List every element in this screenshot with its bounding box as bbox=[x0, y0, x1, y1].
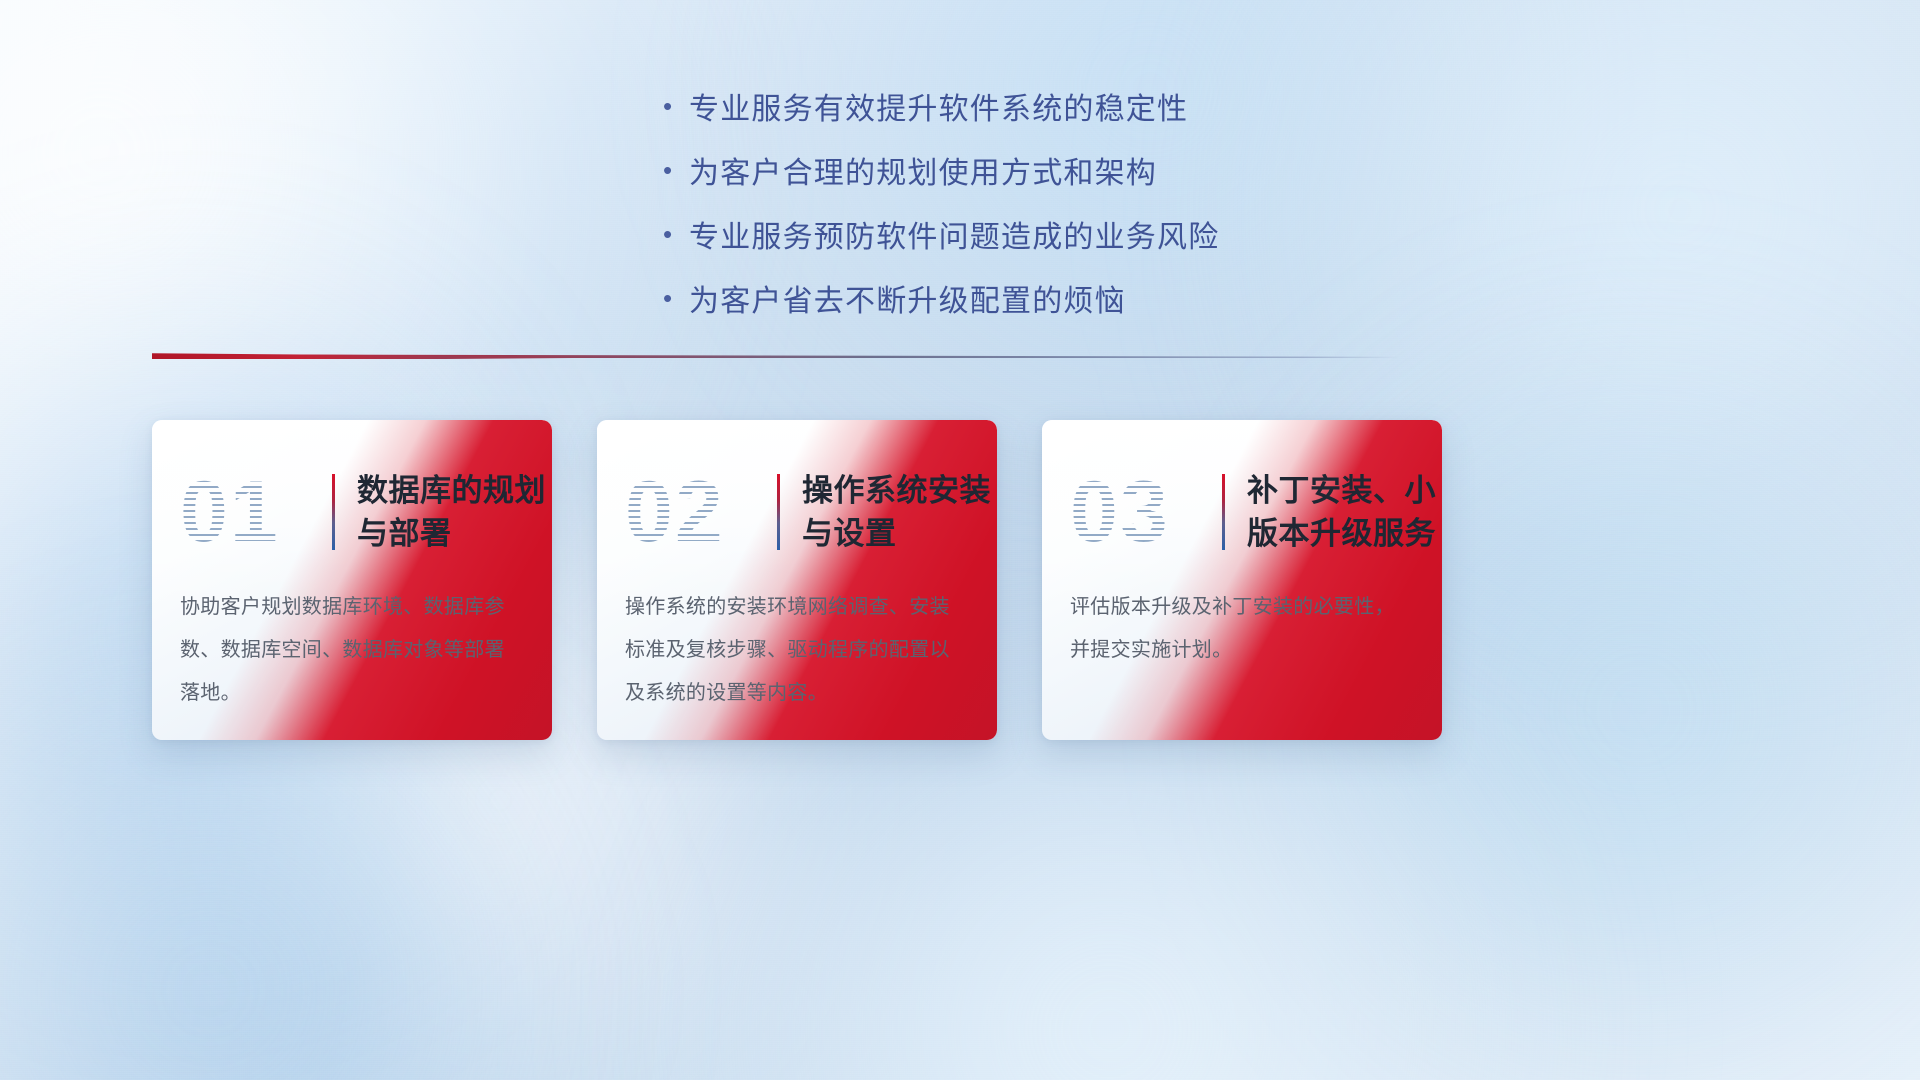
bullet-item-label: 专业服务有效提升软件系统的稳定性 bbox=[689, 84, 1188, 128]
card-number: 02 bbox=[625, 464, 775, 560]
card-description: 协助客户规划数据库环境、数据库参数、数据库空间、数据库对象等部署落地。 bbox=[180, 586, 522, 715]
card-header: 01 数据库的规划与部署 bbox=[152, 420, 552, 570]
card-divider-bar-icon bbox=[1222, 474, 1225, 550]
service-card-03[interactable]: 03 补丁安装、小版本升级服务 评估版本升级及补丁安装的必要性，并提交实施计划。 bbox=[1042, 420, 1442, 740]
bullet-dot-icon: • bbox=[663, 157, 689, 183]
bullet-item-label: 为客户合理的规划使用方式和架构 bbox=[689, 148, 1157, 192]
card-title: 操作系统安装与设置 bbox=[802, 469, 997, 555]
card-divider-bar-icon bbox=[777, 474, 780, 550]
bullet-item: • 专业服务预防软件问题造成的业务风险 bbox=[663, 212, 1219, 276]
card-header: 03 补丁安装、小版本升级服务 bbox=[1042, 420, 1442, 570]
service-card-02[interactable]: 02 操作系统安装与设置 操作系统的安装环境网络调查、安装标准及复核步骤、驱动程… bbox=[597, 420, 997, 740]
card-number: 01 bbox=[180, 464, 330, 560]
card-header: 02 操作系统安装与设置 bbox=[597, 420, 997, 570]
bullet-item: • 专业服务有效提升软件系统的稳定性 bbox=[663, 84, 1188, 148]
bullet-item: • 为客户省去不断升级配置的烦恼 bbox=[663, 276, 1126, 340]
bullet-item-label: 为客户省去不断升级配置的烦恼 bbox=[689, 276, 1126, 320]
card-title: 补丁安装、小版本升级服务 bbox=[1247, 469, 1442, 555]
bullet-dot-icon: • bbox=[663, 93, 689, 119]
card-divider-bar-icon bbox=[332, 474, 335, 550]
card-number: 03 bbox=[1070, 464, 1220, 560]
card-title: 数据库的规划与部署 bbox=[357, 469, 552, 555]
benefit-bullet-list: • 专业服务有效提升软件系统的稳定性 • 为客户合理的规划使用方式和架构 • 专… bbox=[0, 84, 1920, 340]
service-card-list: 01 数据库的规划与部署 协助客户规划数据库环境、数据库参数、数据库空间、数据库… bbox=[152, 420, 1442, 740]
service-card-01[interactable]: 01 数据库的规划与部署 协助客户规划数据库环境、数据库参数、数据库空间、数据库… bbox=[152, 420, 552, 740]
bullet-dot-icon: • bbox=[663, 221, 689, 247]
bullet-item: • 为客户合理的规划使用方式和架构 bbox=[663, 148, 1157, 212]
bullet-dot-icon: • bbox=[663, 285, 689, 311]
bullet-item-label: 专业服务预防软件问题造成的业务风险 bbox=[689, 212, 1219, 256]
card-description: 评估版本升级及补丁安装的必要性，并提交实施计划。 bbox=[1070, 586, 1412, 672]
card-description: 操作系统的安装环境网络调查、安装标准及复核步骤、驱动程序的配置以及系统的设置等内… bbox=[625, 586, 967, 715]
section-divider bbox=[152, 350, 1400, 362]
